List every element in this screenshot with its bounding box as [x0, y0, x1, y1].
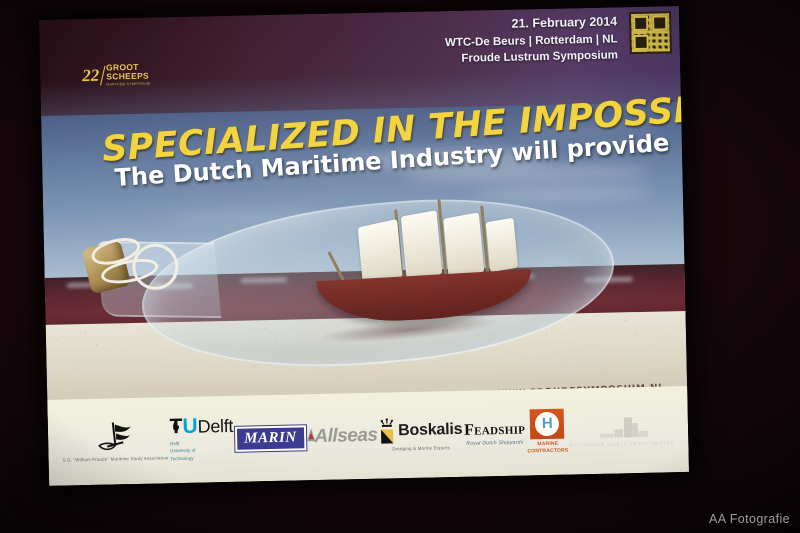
sponsor-logo-heerema[interactable]: H MARINE CONTRACTORS — [527, 408, 569, 456]
ship-sail — [443, 212, 484, 278]
tu-flame-icon — [171, 419, 180, 430]
sponsor-caption: MARINE CONTRACTORS — [527, 440, 568, 456]
sponsor-caption: Royal Dutch Shipyards — [466, 439, 523, 446]
organizer-line2: SCHEEPS — [106, 72, 150, 82]
ship-sail — [358, 219, 403, 285]
organizer-logo: 22 GROOT SCHEEPS MARITIEM SYMPOSIUM — [82, 63, 150, 88]
sponsor-logo-feadship[interactable]: Feadship Royal Dutch Shipyards — [464, 420, 526, 446]
logo-divider — [100, 65, 105, 85]
photographer-watermark: AA Fotografie — [709, 512, 790, 526]
ship-wheel-icon — [93, 420, 138, 455]
sponsor-logo-allseas[interactable]: Allseas — [307, 425, 378, 449]
marin-wordmark: MARIN — [235, 425, 306, 452]
event-header-text: 21. February 2014 WTC-De Beurs | Rotterd… — [444, 13, 618, 67]
sponsor-caption: ROTTERDAM WORLD TRADE CENTER — [570, 440, 674, 447]
ship-sail — [401, 210, 442, 280]
organizer-mark: 22 — [82, 67, 99, 84]
sponsor-logo-marin[interactable]: MARIN — [235, 425, 306, 452]
boskalis-wordmark: Boskalis — [398, 421, 463, 440]
sponsor-logo-tudelft[interactable]: T U Delft Delft University of Technology — [169, 417, 233, 462]
qr-code-icon[interactable] — [629, 11, 672, 54]
sponsor-logo-wtc[interactable]: ROTTERDAM WORLD TRADE CENTER — [569, 414, 674, 447]
wtc-tower-icon — [594, 414, 651, 439]
sponsor-logo-boskalis[interactable]: Boskalis Dredging & Marine Experts — [379, 417, 463, 453]
sponsor-caption: Delft University of Technology — [170, 440, 196, 462]
sponsor-logo-bar: S.G. "William Froude" Maritime Study Ass… — [47, 386, 689, 486]
sponsor-caption: S.G. "William Froude" Maritime Study Ass… — [63, 455, 169, 464]
tudelft-word: Delft — [197, 418, 233, 435]
ship-sail — [486, 218, 518, 272]
qr-eye — [633, 35, 648, 50]
crown-icon — [379, 418, 396, 444]
allseas-wordmark: Allseas — [314, 425, 378, 448]
photo-of-projected-slide: WWW.FROUDESYMPOSIUM.NL S.G. "William Fro… — [0, 0, 800, 533]
sponsor-caption: Dredging & Marine Experts — [392, 445, 450, 453]
tudelft-u: U — [182, 418, 198, 437]
feadship-wordmark: Feadship — [464, 420, 525, 439]
qr-eye — [652, 15, 667, 30]
qr-eye — [633, 16, 648, 31]
heerema-h-letter: H — [535, 411, 560, 436]
presentation-slide: WWW.FROUDESYMPOSIUM.NL S.G. "William Fro… — [39, 6, 689, 486]
heerema-mark: H — [530, 408, 565, 439]
sponsor-logo-froude[interactable]: S.G. "William Froude" Maritime Study Ass… — [62, 419, 169, 464]
